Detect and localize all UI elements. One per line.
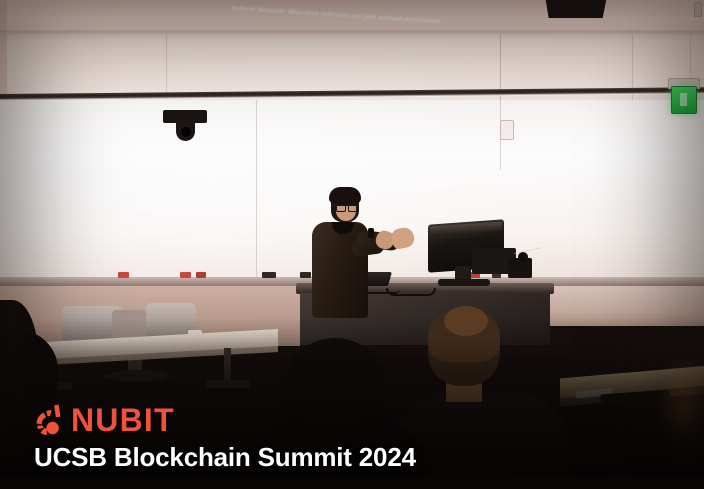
whiteboard-marker — [196, 272, 206, 278]
whiteboard-marker — [300, 272, 311, 278]
warm-light-glow — [640, 360, 704, 480]
nubit-wordmark: NUBIT — [71, 404, 175, 436]
wall-sensor-icon — [694, 2, 702, 17]
whiteboard-seam — [256, 100, 257, 284]
whiteboard-marker — [118, 272, 129, 278]
wall-outlet-icon — [500, 120, 514, 140]
glasses-lens-left — [336, 204, 346, 212]
audience-hair-highlight — [444, 306, 488, 336]
monitor-base — [438, 279, 490, 286]
bottom-black-bar — [0, 477, 704, 489]
whiteboard-marker — [180, 272, 191, 278]
av-equipment-knob — [518, 252, 528, 262]
nubit-logo: NUBIT — [34, 404, 416, 436]
presenter-hair — [329, 187, 361, 204]
event-title: UCSB Blockchain Summit 2024 — [34, 444, 416, 471]
nubit-logo-mark — [34, 404, 64, 436]
glasses-lens-right — [348, 204, 358, 212]
screenshot-root: Indexer Network: Malicious indexers can … — [0, 0, 704, 489]
projector-screen-shadow — [0, 30, 704, 40]
desk-cable — [386, 288, 436, 296]
camera-lens-icon — [181, 127, 191, 137]
handheld-remote — [368, 228, 374, 238]
whiteboard-marker — [262, 272, 276, 278]
exit-sign-icon — [671, 86, 697, 114]
ceiling-projector — [545, 0, 607, 18]
branding-block: NUBIT UCSB Blockchain Summit 2024 — [34, 404, 416, 471]
